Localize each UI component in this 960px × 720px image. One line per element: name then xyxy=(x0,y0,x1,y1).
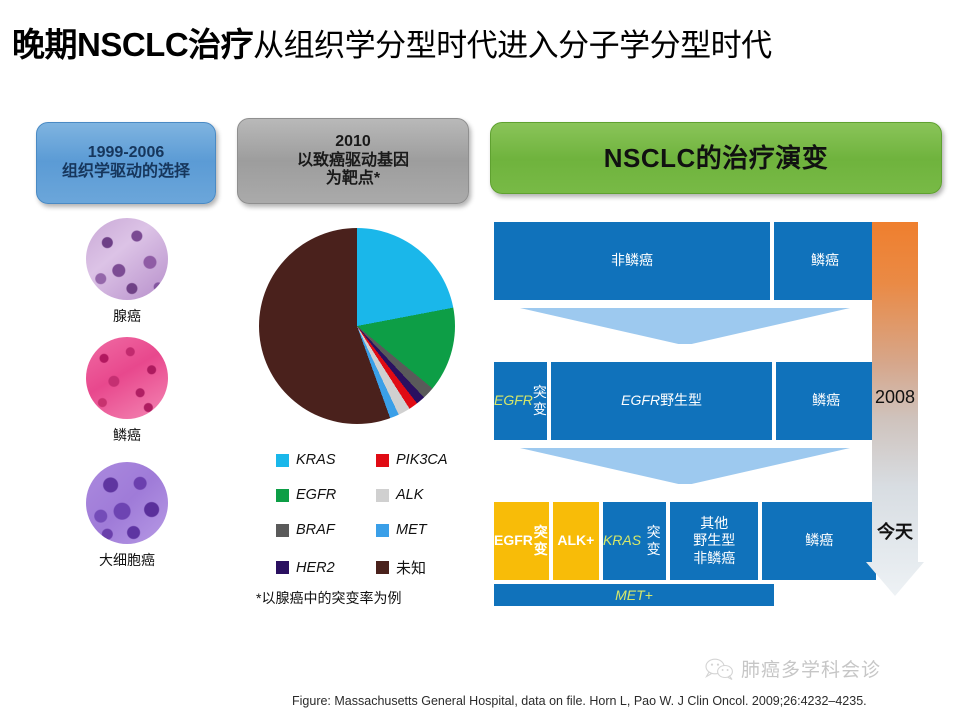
page-title: 晚期NSCLC治疗从组织学分型时代进入分子学分型时代 xyxy=(12,16,948,68)
era-card-molecular-year: 2010 xyxy=(335,133,371,152)
watermark: 肺癌多学科会诊 xyxy=(704,655,881,682)
flow-box-text: 突变 xyxy=(647,524,661,558)
wechat-icon xyxy=(704,658,734,680)
flow-box-squamous: 鳞癌 xyxy=(762,502,876,580)
gene-label: EGFR xyxy=(621,392,660,410)
histology-adenocarcinoma: 腺癌 xyxy=(52,218,202,326)
era-card-histology-years: 1999-2006 xyxy=(88,144,165,163)
era-card-histology: 1999-2006 组织学驱动的选择 xyxy=(36,122,216,204)
met-positive-bar: MET+ xyxy=(494,584,774,606)
legend-swatch-BRAF xyxy=(276,524,289,537)
flow-box-alk-positive: ALK+ xyxy=(553,502,599,580)
timeline-arrowhead-icon xyxy=(866,562,924,596)
flow-box-text: ALK+ xyxy=(557,532,594,550)
mutation-pie-chart xyxy=(259,228,455,424)
gene-label: EGFR xyxy=(494,392,533,410)
flow-box-text: 鳞癌 xyxy=(811,252,839,270)
flow-box-squamous: 鳞癌 xyxy=(776,362,876,440)
flow-box-kras-mutant: KRAS突变 xyxy=(603,502,666,580)
page-title-emphasis: 晚期NSCLC治疗 xyxy=(12,18,253,66)
page-title-rest: 从组织学分型时代进入分子学分型时代 xyxy=(253,20,772,65)
large-cell-micrograph xyxy=(86,462,168,544)
legend-item-MET: MET xyxy=(376,522,472,538)
gene-label: KRAS xyxy=(603,532,641,550)
flow-box-text: 鳞癌 xyxy=(812,392,840,410)
flow-box-text: 其他野生型非鳞癌 xyxy=(693,515,735,568)
squamous-label: 鳞癌 xyxy=(52,425,202,445)
flow-box-text: 非鳞癌 xyxy=(611,252,653,270)
legend-label-HER2: HER2 xyxy=(296,560,335,576)
legend-item-EGFR: EGFR xyxy=(276,487,372,503)
timeline-label-today: 今天 xyxy=(866,518,924,544)
treatment-evolution-flow: 非鳞癌鳞癌 EGFR突变EGFR 野生型鳞癌 EGFR突变ALK+KRAS突变其… xyxy=(494,222,894,608)
squamous-micrograph xyxy=(86,337,168,419)
legend-swatch-KRAS xyxy=(276,454,289,467)
legend-swatch-HER2 xyxy=(276,561,289,574)
legend-label-PIK3CA: PIK3CA xyxy=(396,452,448,468)
legend-item-ALK: ALK xyxy=(376,487,472,503)
era-card-molecular-subtitle-2: 为靶点* xyxy=(326,170,380,189)
flow-box-text: 突变 xyxy=(534,524,548,558)
gene-label: EGFR xyxy=(494,532,533,550)
pie-chart-legend: KRASPIK3CAEGFRALKBRAFMETHER2未知 xyxy=(276,452,472,578)
flow-box-other-wildtype-nonsquamous: 其他野生型非鳞癌 xyxy=(670,502,758,580)
era-card-molecular-subtitle-1: 以致癌驱动基因 xyxy=(297,152,409,171)
legend-swatch-MET xyxy=(376,524,389,537)
legend-label-KRAS: KRAS xyxy=(296,452,336,468)
adenocarcinoma-micrograph xyxy=(86,218,168,300)
funnel-arrow-2-icon xyxy=(520,448,850,484)
flow-box-egfr-wildtype: EGFR 野生型 xyxy=(551,362,772,440)
pie-chart-footnote: *以腺癌中的突变率为例 xyxy=(256,588,401,608)
adenocarcinoma-label: 腺癌 xyxy=(52,306,202,326)
flow-row-2006: 非鳞癌鳞癌 xyxy=(494,222,876,300)
evolution-header: NSCLC的治疗演变 xyxy=(490,122,942,194)
large-cell-label: 大细胞癌 xyxy=(52,550,202,570)
legend-label-ALK: ALK xyxy=(396,487,423,503)
timeline-arrow: 2008 今天 xyxy=(866,222,924,602)
legend-swatch-ALK xyxy=(376,489,389,502)
flow-box-text: 鳞癌 xyxy=(805,532,833,550)
legend-swatch-EGFR xyxy=(276,489,289,502)
evolution-header-label: NSCLC的治疗演变 xyxy=(604,143,829,173)
legend-item-PIK3CA: PIK3CA xyxy=(376,452,472,468)
flow-box-text: 突变 xyxy=(533,384,547,418)
legend-label-MET: MET xyxy=(396,522,427,538)
legend-swatch-PIK3CA xyxy=(376,454,389,467)
figure-citation: Figure: Massachusetts General Hospital, … xyxy=(292,694,867,708)
histology-large-cell: 大细胞癌 xyxy=(52,462,202,570)
era-card-histology-subtitle: 组织学驱动的选择 xyxy=(62,163,190,182)
funnel-arrow-1-icon xyxy=(520,308,850,344)
flow-box-egfr-mutant: EGFR突变 xyxy=(494,502,549,580)
legend-item-HER2: HER2 xyxy=(276,557,372,578)
flow-box-egfr-mutant: EGFR突变 xyxy=(494,362,547,440)
flow-row-today: EGFR突变ALK+KRAS突变其他野生型非鳞癌鳞癌 xyxy=(494,502,876,580)
histology-squamous: 鳞癌 xyxy=(52,337,202,445)
legend-item-BRAF: BRAF xyxy=(276,522,372,538)
era-card-molecular: 2010 以致癌驱动基因 为靶点* xyxy=(237,118,469,204)
legend-item-KRAS: KRAS xyxy=(276,452,372,468)
timeline-label-2008: 2008 xyxy=(866,387,924,408)
legend-item-未知: 未知 xyxy=(376,557,472,578)
flow-row-2008: EGFR突变EGFR 野生型鳞癌 xyxy=(494,362,876,440)
legend-label-EGFR: EGFR xyxy=(296,487,336,503)
flow-box-non-squamous: 非鳞癌 xyxy=(494,222,770,300)
legend-label-BRAF: BRAF xyxy=(296,522,335,538)
watermark-text: 肺癌多学科会诊 xyxy=(741,655,881,682)
legend-label-未知: 未知 xyxy=(396,557,426,578)
legend-swatch-未知 xyxy=(376,561,389,574)
flow-box-squamous: 鳞癌 xyxy=(774,222,876,300)
